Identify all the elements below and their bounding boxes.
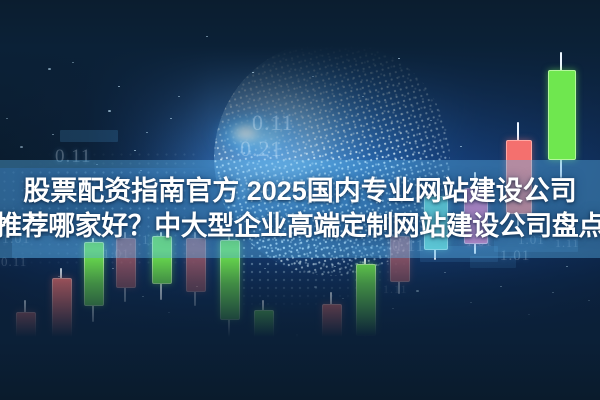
speck [48, 68, 51, 70]
speck [178, 96, 180, 97]
speck [362, 96, 364, 97]
banner-image: 0.110.110.211.111.010.111.011.011.111.01… [0, 0, 600, 400]
speck [6, 118, 8, 119]
speck [206, 36, 208, 37]
speck [430, 120, 432, 121]
candle-body [548, 70, 576, 160]
speck [52, 134, 54, 135]
speck [20, 146, 23, 148]
speck [134, 150, 136, 151]
vignette-bottom [0, 250, 600, 400]
data-chip [60, 130, 118, 142]
speck [146, 132, 148, 133]
ghost-number: 0.11 [252, 110, 294, 136]
speck [460, 146, 462, 147]
speck [118, 86, 120, 87]
speck [170, 118, 172, 119]
speck [252, 72, 254, 73]
title-line-1: 股票配资指南官方 2025国内专业网站建设公司 [23, 175, 577, 208]
speck [108, 110, 111, 112]
ghost-number: 0.21 [240, 136, 283, 162]
title-line-2: 推荐哪家好？中大型企业高端定制网站建设公司盘点 [0, 210, 600, 243]
speck [312, 76, 314, 77]
speck [398, 58, 400, 59]
page-title: 股票配资指南官方 2025国内专业网站建设公司 推荐哪家好？中大型企业高端定制网… [0, 160, 600, 258]
speck [72, 62, 74, 63]
